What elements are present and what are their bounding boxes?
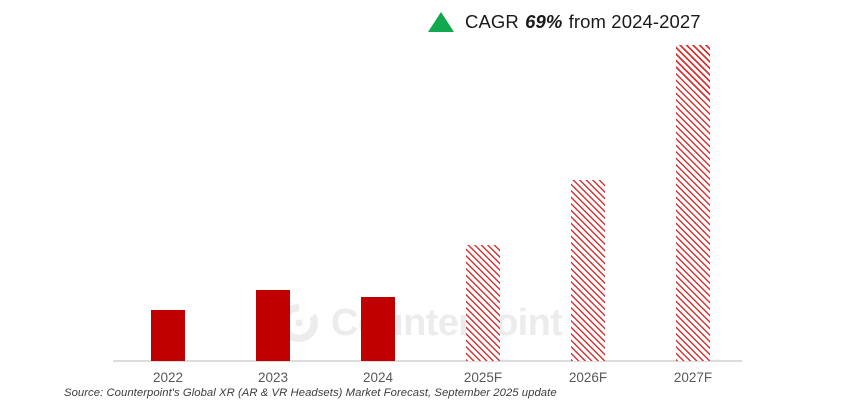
x-tick-label-2026F: 2026F [543,369,633,387]
bar-2023 [256,290,290,361]
x-tick-label-2024: 2024 [333,369,423,387]
bar-2022 [151,310,185,361]
x-axis-labels: 2022 2023 2024 2025F 2026F 2027F [0,369,859,387]
chart-container: CAGR 69% from 2024-2027 Counterpoint 202… [0,0,859,409]
x-tick-label-2025F: 2025F [438,369,528,387]
bar-2024 [361,297,395,361]
x-tick-label-2027F: 2027F [648,369,738,387]
bars-layer [0,0,859,409]
x-tick-label-2022: 2022 [123,369,213,387]
x-tick-label-2023: 2023 [228,369,318,387]
bar-2027F [676,45,710,361]
bar-2025F [466,245,500,361]
bar-2026F [571,180,605,361]
